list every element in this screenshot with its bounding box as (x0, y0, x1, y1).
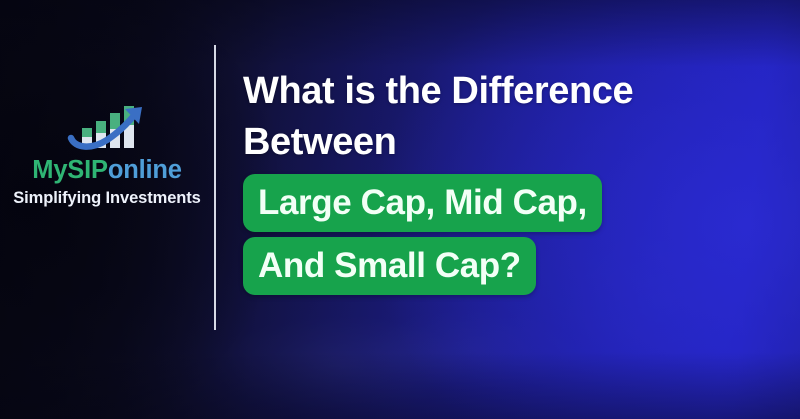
brand-logo[interactable]: MySIPonline Simplifying Investments (0, 100, 214, 208)
blog-banner: MySIPonline Simplifying Investments What… (0, 0, 800, 419)
logo-wordmark-part-two: online (108, 156, 182, 184)
headline-line-one: What is the Difference (243, 66, 788, 117)
headline-block: What is the Difference Between Large Cap… (243, 66, 788, 295)
growth-bar-chart-arrow-icon (65, 100, 149, 152)
headline-highlight-line-one: Large Cap, Mid Cap, (243, 174, 602, 232)
logo-wordmark: MySIPonline (0, 158, 214, 184)
logo-wordmark-part-one: MySIP (32, 156, 108, 184)
vertical-divider (214, 45, 216, 330)
headline-line-two: Between (243, 117, 788, 168)
logo-tagline: Simplifying Investments (0, 189, 214, 208)
headline-highlight-block: Large Cap, Mid Cap, And Small Cap? (243, 174, 788, 295)
headline-highlight-line-two: And Small Cap? (243, 237, 536, 295)
